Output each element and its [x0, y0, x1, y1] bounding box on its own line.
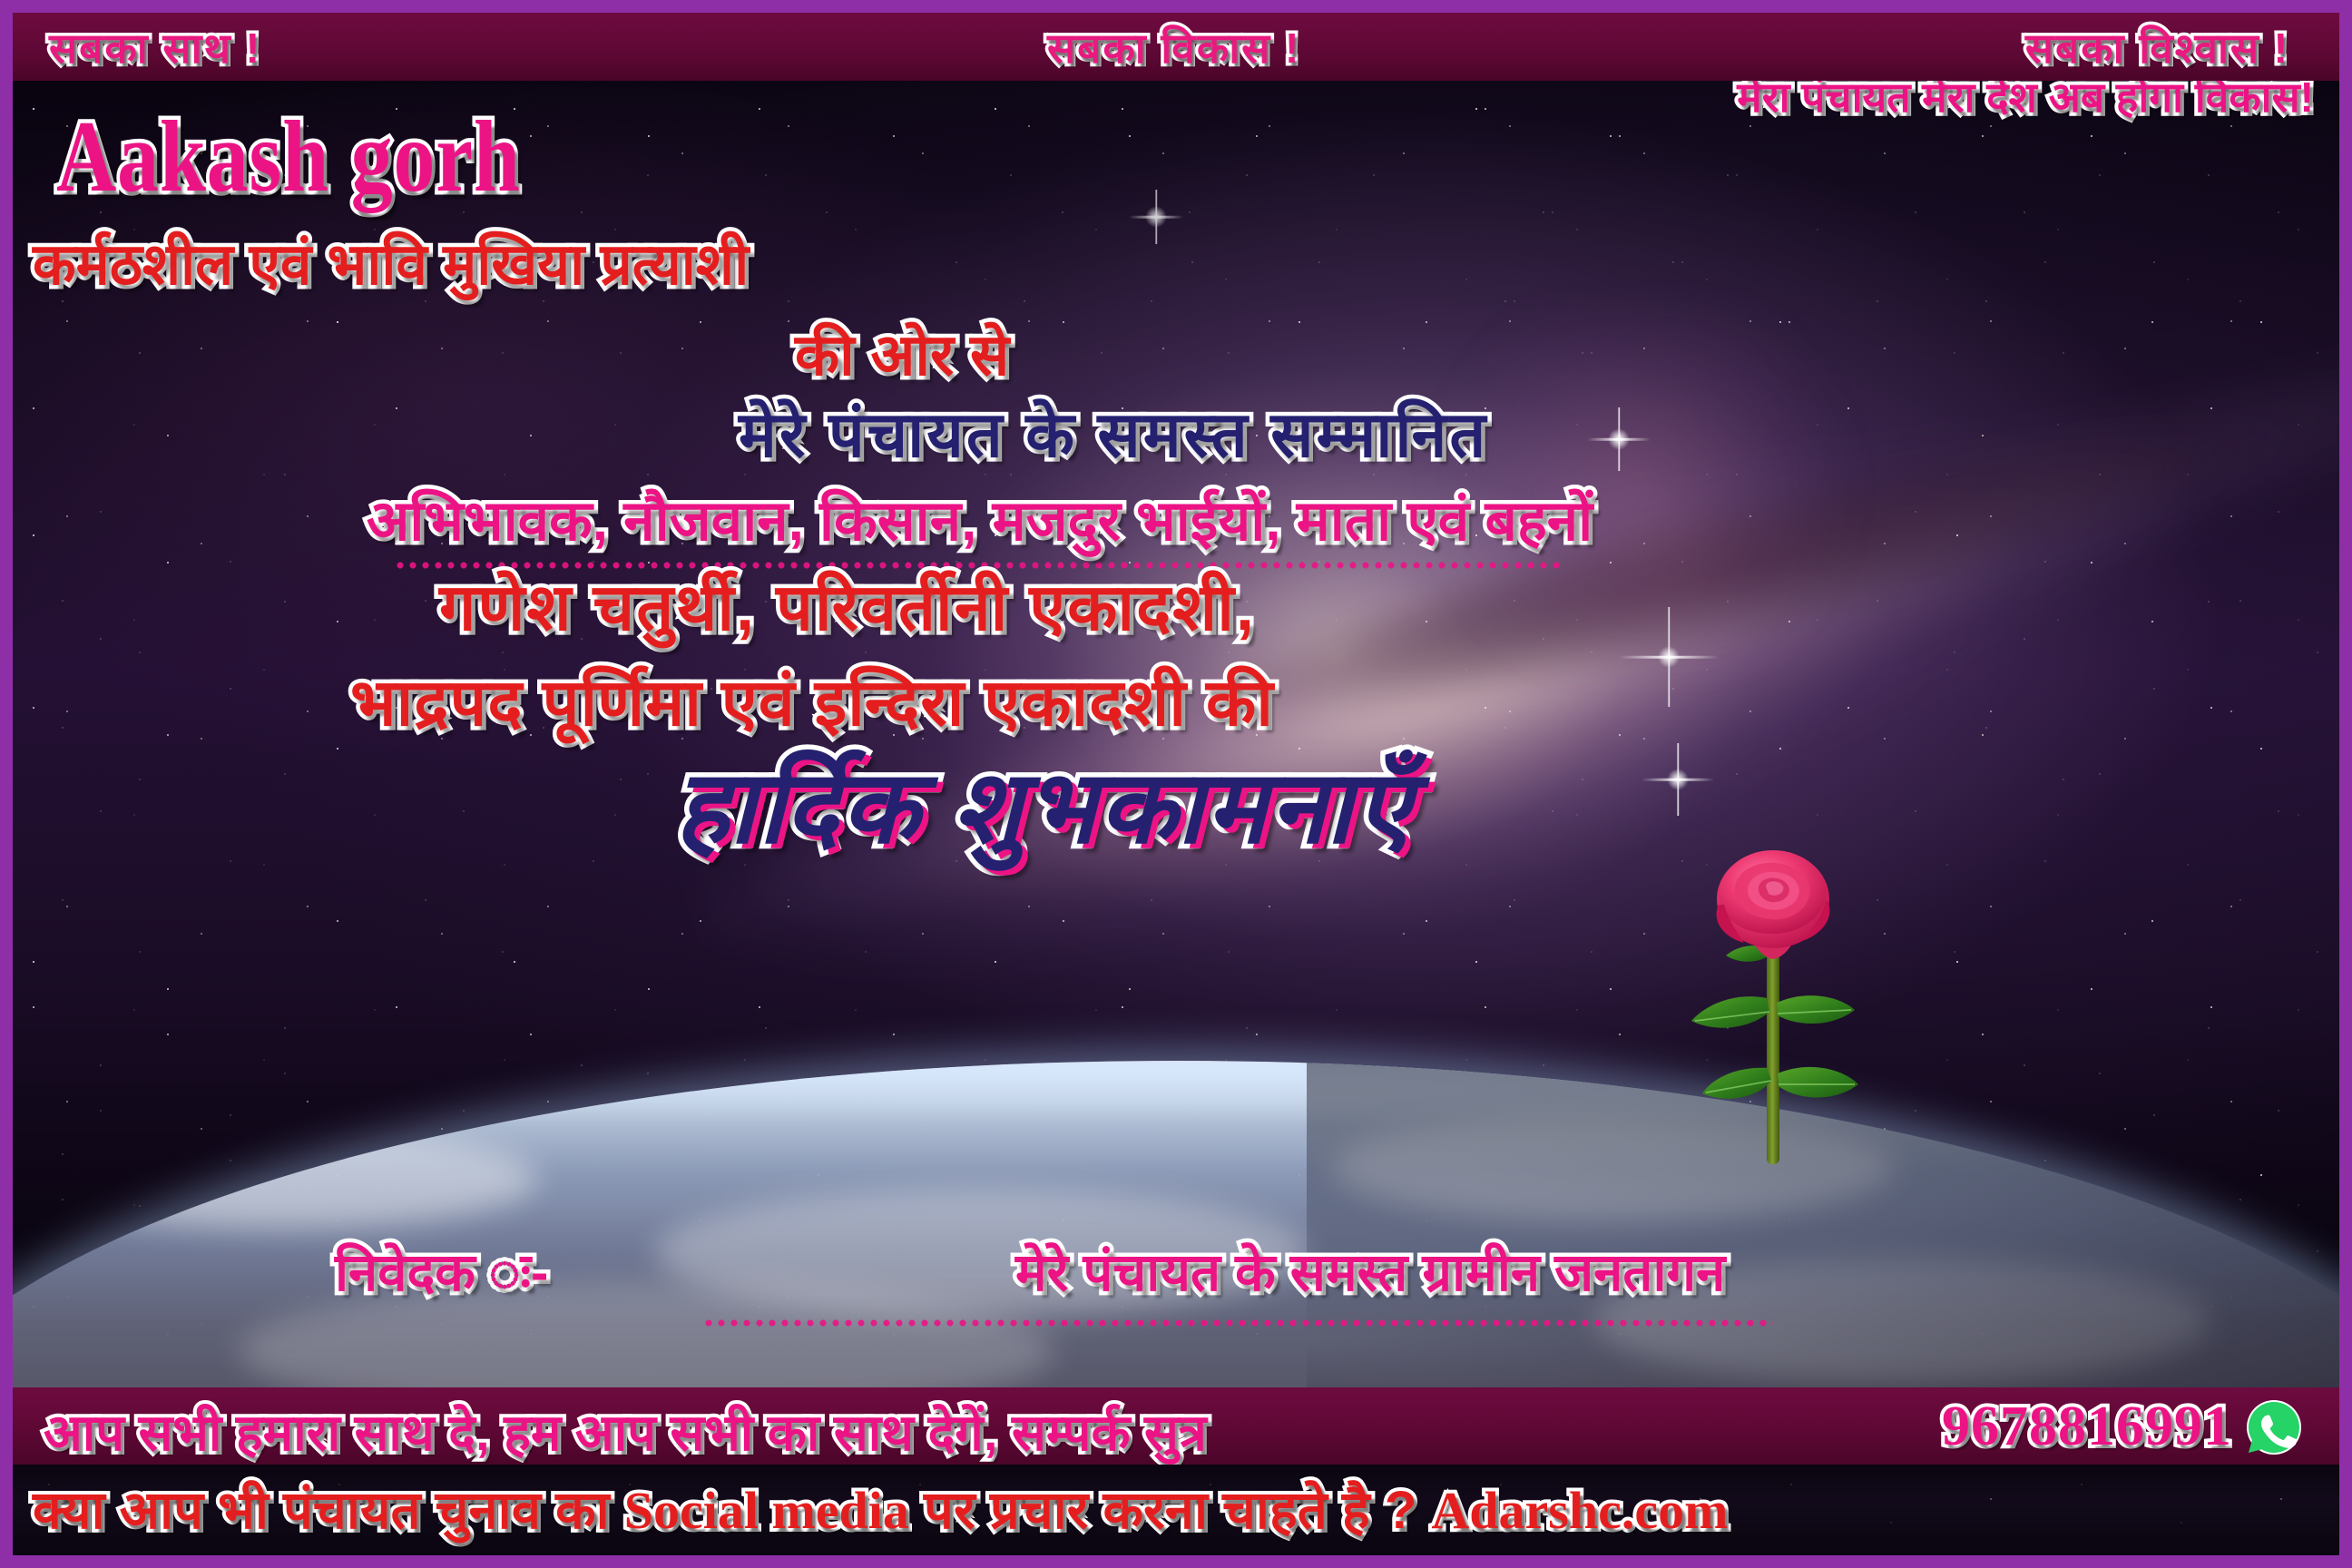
body-line-3: गणेश चतुर्थी, परिवर्तीनी एकादशी, [439, 575, 1256, 641]
sender-value: मेरे पंचायत के समस्त ग्रामीन जनतागन [1015, 1247, 1725, 1299]
dotted-divider [702, 1319, 1773, 1327]
candidate-name: Aakash gorh [56, 106, 521, 208]
whatsapp-icon[interactable] [2245, 1398, 2303, 1456]
dotted-divider [394, 562, 1564, 569]
contact-phone-number[interactable]: 9678816991 [1942, 1395, 2232, 1459]
promo-pre-text: क्या आप भी पंचायत चुनाव का [33, 1481, 624, 1540]
candidate-designation: कर्मठशील एवं भावि मुखिया प्रत्याशी [33, 235, 749, 293]
body-line-2: अभिभावक, नौजवान, किसान, मजदुर भाईयों, मा… [367, 494, 1592, 550]
greeting-text: हार्दिक शुभकामनाएँ [675, 757, 1414, 858]
slogan-sabka-vikas: सबका विकास ! [1047, 19, 1300, 75]
slogan-sabka-saath: सबका साथ ! [49, 19, 261, 75]
promo-website-link[interactable]: Adarshc.com [1431, 1481, 1728, 1540]
promo-social-media-label: Social media [624, 1481, 909, 1540]
poster-content: Aakash gorh कर्मठशील एवं भावि मुखिया प्र… [13, 81, 2339, 1387]
from-label: की ओर से [795, 326, 1009, 384]
sender-label: निवेदक ः- [335, 1247, 548, 1299]
promo-mid-text: पर प्रचार करना चाहते है ? [909, 1481, 1431, 1540]
tagline-line-2: मेरा पंचायत मेरा देश अब होगा विकास! [1737, 74, 2314, 122]
slogan-sabka-vishwas: सबका विश्वास ! [2025, 19, 2289, 75]
poster-inner-frame: Aakash gorh कर्मठशील एवं भावि मुखिया प्र… [13, 13, 2339, 1555]
poster-root: Aakash gorh कर्मठशील एवं भावि मुखिया प्र… [0, 0, 2352, 1568]
footer-promo-text: क्या आप भी पंचायत चुनाव का Social media … [33, 1472, 1728, 1543]
footer-promo-strip: क्या आप भी पंचायत चुनाव का Social media … [13, 1465, 2339, 1555]
top-slogan-bar: सबका साथ ! सबका विकास ! सबका विश्वास ! [13, 13, 2339, 81]
body-line-4: भाद्रपद पूर्णिमा एवं इन्दिरा एकादशी की [350, 671, 1274, 736]
body-line-1: मेरे पंचायत के समस्त सम्मानित [739, 403, 1488, 466]
rose-flower-icon [1670, 839, 1887, 1166]
footer-appeal-text: आप सभी हमारा साथ दे, हम आप सभी का साथ दे… [44, 1396, 1207, 1465]
footer-contact-bar: आप सभी हमारा साथ दे, हम आप सभी का साथ दे… [13, 1387, 2339, 1465]
